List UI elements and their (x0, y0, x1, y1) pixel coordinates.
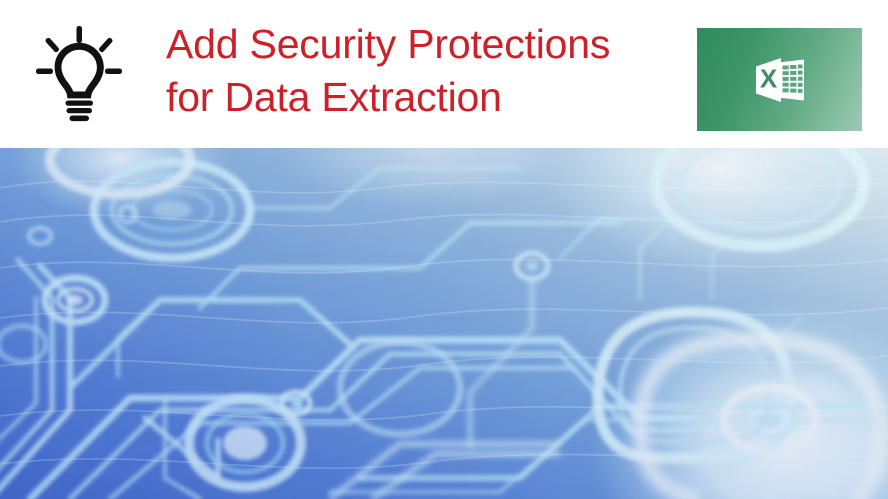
microsoft-excel-icon: X (748, 53, 812, 107)
lightbulb-idea-icon (33, 24, 125, 124)
excel-logo-tile: X (697, 28, 862, 131)
slide-canvas: Add Security Protections for Data Extrac… (0, 0, 888, 499)
title-line-1: Add Security Protections (166, 18, 686, 71)
circuit-board-texture (0, 148, 888, 499)
title-line-2: for Data Extraction (166, 71, 686, 124)
svg-text:X: X (759, 63, 777, 93)
page-title: Add Security Protections for Data Extrac… (166, 18, 686, 124)
header-band: Add Security Protections for Data Extrac… (0, 0, 888, 148)
